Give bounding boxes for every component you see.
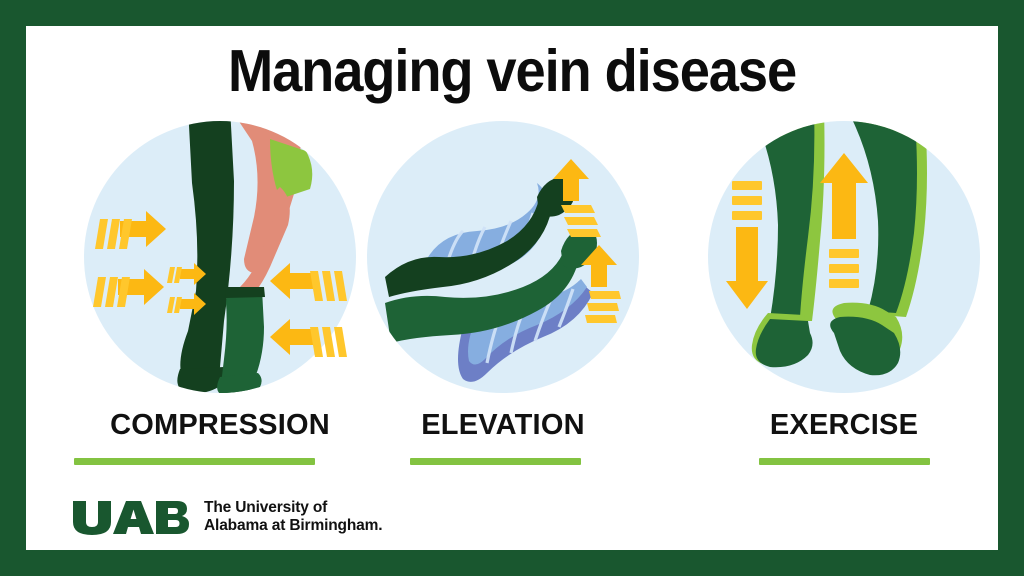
compression-arrow-left-top (95, 211, 166, 249)
exercise-artwork (708, 121, 980, 393)
panel-compression: COMPRESSION (70, 121, 370, 481)
compression-artwork (84, 121, 356, 393)
elevation-illustration (367, 121, 639, 393)
panel-elevation: ELEVATION (353, 121, 653, 481)
uab-logo-line2: Alabama at Birmingham. (204, 517, 382, 536)
poster-canvas: Managing vein disease (26, 26, 998, 550)
uab-logo: The University of Alabama at Birmingham. (73, 494, 382, 540)
exercise-illustration (708, 121, 980, 393)
caption-exercise: EXERCISE (694, 409, 994, 442)
poster-frame: Managing vein disease (0, 0, 1024, 576)
exercise-arrow-down (726, 181, 768, 309)
uab-logo-line1: The University of (204, 499, 382, 518)
compression-arrow-left-bottom (93, 269, 164, 307)
compression-arrow-right-top (270, 263, 347, 301)
uab-wordmark-icon (73, 497, 191, 537)
compression-arrow-right-bottom (270, 319, 347, 357)
panel-exercise: EXERCISE (694, 121, 994, 481)
underline-exercise (759, 458, 930, 465)
caption-compression: COMPRESSION (70, 409, 370, 442)
stocking-cuff (225, 287, 265, 298)
caption-elevation: ELEVATION (353, 409, 653, 442)
front-foot-shape (217, 373, 262, 397)
underline-elevation (410, 458, 581, 465)
page-title: Managing vein disease (65, 40, 959, 102)
elevation-artwork (367, 121, 639, 393)
uab-logo-text: The University of Alabama at Birmingham. (204, 499, 382, 536)
exercise-arrow-up (820, 153, 868, 288)
compression-illustration (84, 121, 356, 393)
underline-compression (74, 458, 315, 465)
